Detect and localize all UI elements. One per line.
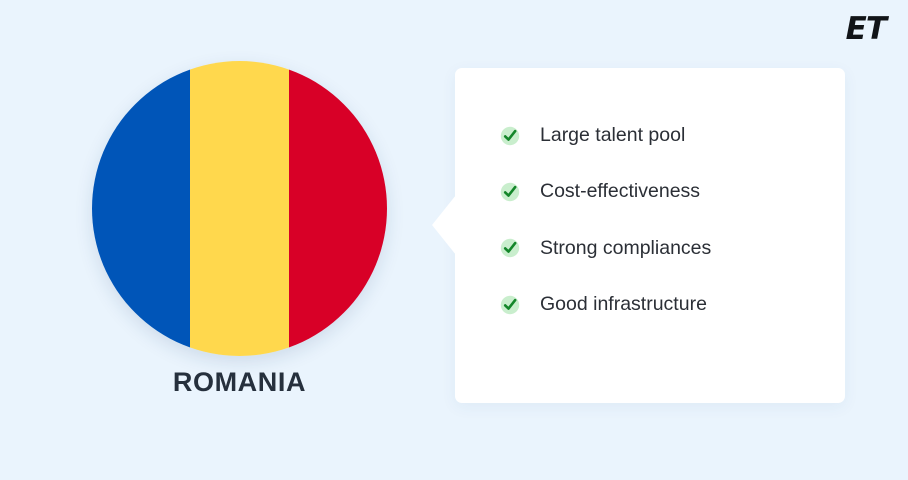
- benefits-callout-card: Large talent pool Cost-effectiveness Str…: [455, 68, 845, 403]
- benefit-label: Strong compliances: [540, 237, 711, 260]
- brand-logo: ET: [846, 14, 886, 45]
- benefit-label: Good infrastructure: [540, 293, 707, 316]
- benefit-label: Cost-effectiveness: [540, 180, 700, 203]
- list-item: Good infrastructure: [500, 293, 825, 316]
- benefits-list: Large talent pool Cost-effectiveness Str…: [500, 124, 825, 317]
- romania-flag-circle-icon: [92, 61, 387, 356]
- list-item: Large talent pool: [500, 124, 825, 147]
- callout-pointer: [432, 195, 456, 255]
- benefit-label: Large talent pool: [540, 124, 685, 147]
- list-item: Cost-effectiveness: [500, 180, 825, 203]
- infographic-canvas: ET ROMANIA Large talent pool: [0, 0, 908, 480]
- list-item: Strong compliances: [500, 237, 825, 260]
- check-circle-icon: [500, 295, 520, 315]
- flag-stripe-blue: [92, 61, 190, 356]
- flag-stripe-red: [289, 61, 387, 356]
- check-circle-icon: [500, 126, 520, 146]
- country-name-label: ROMANIA: [92, 368, 387, 398]
- country-flag-block: [92, 61, 387, 356]
- check-circle-icon: [500, 182, 520, 202]
- flag-stripe-yellow: [190, 61, 288, 356]
- check-circle-icon: [500, 238, 520, 258]
